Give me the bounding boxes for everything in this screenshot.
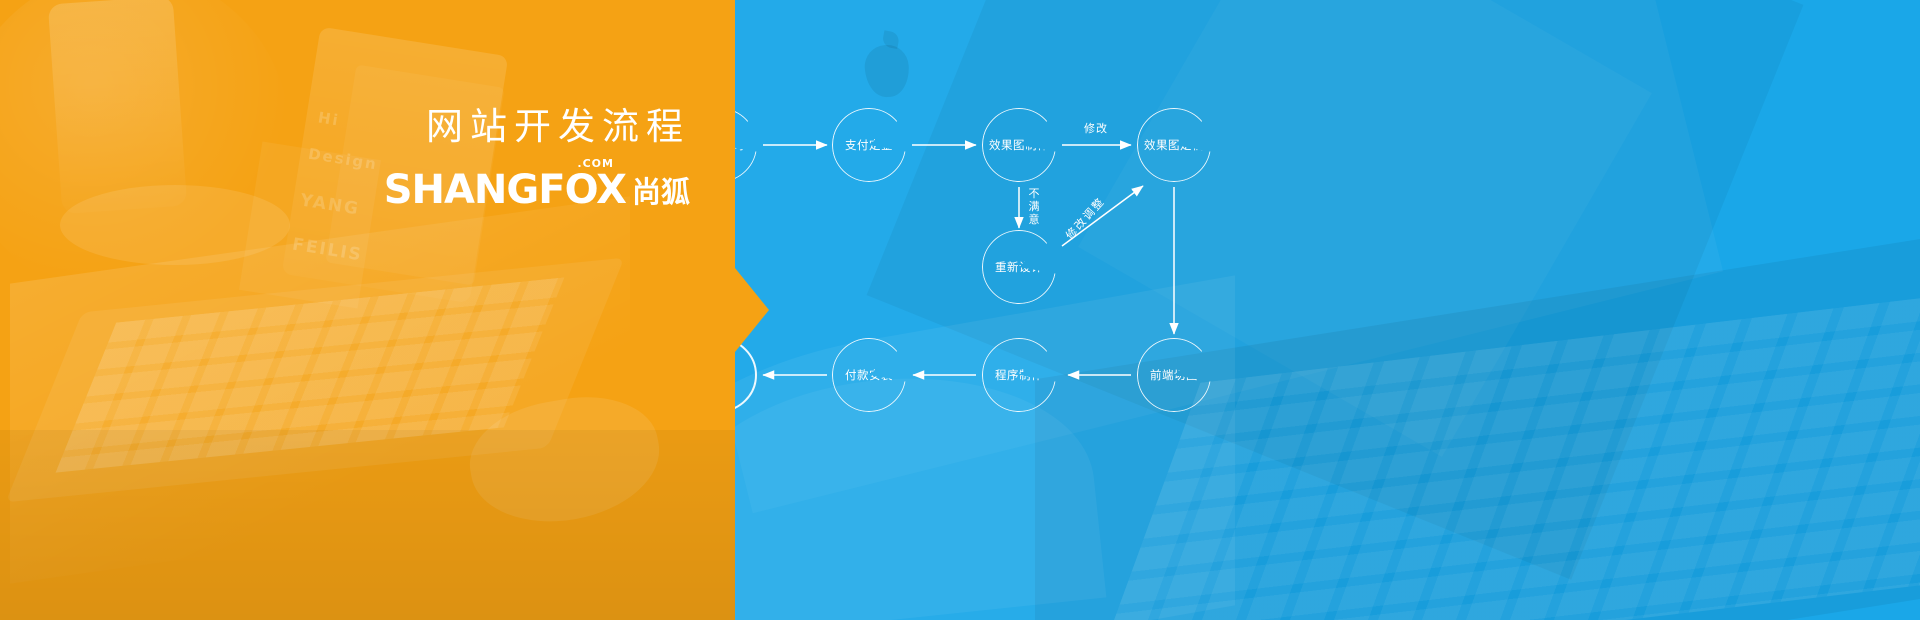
logo-text-box: .COM SHANGFOX xyxy=(384,171,626,209)
flow-node-label: 付款安装 xyxy=(845,369,893,382)
flow-node-payment-install[interactable]: 付款安装 xyxy=(832,338,906,412)
flow-node-frontend-slicing[interactable]: 前端切图 xyxy=(1137,338,1211,412)
flow-node-sign-contract[interactable]: 签定合同 xyxy=(735,108,757,182)
flow-node-design-mockup[interactable]: 效果图制作 xyxy=(982,108,1056,182)
panel-divider-arrow xyxy=(735,268,769,352)
logo-chinese-name: 尚狐 xyxy=(632,178,690,209)
flow-node-mockup-final[interactable]: 效果图定稿 xyxy=(1137,108,1211,182)
flow-node-label: 效果图定稿 xyxy=(1144,139,1204,152)
edge-label-modify: 修改 xyxy=(1084,120,1108,136)
photo-texture-shadow xyxy=(0,430,735,620)
flow-node-label: 效果图制作 xyxy=(989,139,1049,152)
banner-stage: Hi Design YANG FEILIS 网站开发流程 .COM SHANGF… xyxy=(0,0,1920,620)
flow-node-label: 支付定金 xyxy=(845,139,893,152)
flow-node-label: 前端切图 xyxy=(1150,369,1198,382)
flow-diagram: 签定合同 支付定金 效果图制作 效果图定稿 重新设计 前端切图 程序制作 xyxy=(735,0,1920,620)
flow-node-label: 签定合同 xyxy=(735,139,744,152)
edge-label-modify-adjust: 修改调整 xyxy=(1062,193,1109,242)
flow-node-label: 重新设计 xyxy=(995,261,1043,274)
flow-node-label: 程序制作 xyxy=(995,369,1043,382)
page-title: 网站开发流程 xyxy=(0,105,700,149)
right-blue-panel: 签定合同 支付定金 效果图制作 效果图定稿 重新设计 前端切图 程序制作 xyxy=(735,0,1920,620)
flow-node-pay-deposit[interactable]: 支付定金 xyxy=(832,108,906,182)
logo: .COM SHANGFOX 尚狐 xyxy=(0,171,700,209)
left-orange-panel: Hi Design YANG FEILIS xyxy=(0,0,735,620)
logo-wordmark: SHANGFOX xyxy=(384,167,626,213)
logo-domain: .COM xyxy=(577,157,614,170)
flow-node-program-dev[interactable]: 程序制作 xyxy=(982,338,1056,412)
brand-copy-block: 网站开发流程 .COM SHANGFOX 尚狐 xyxy=(0,105,700,209)
flow-node-redesign[interactable]: 重新设计 xyxy=(982,230,1056,304)
edge-label-unsatisfied: 不满意 xyxy=(1025,188,1041,227)
